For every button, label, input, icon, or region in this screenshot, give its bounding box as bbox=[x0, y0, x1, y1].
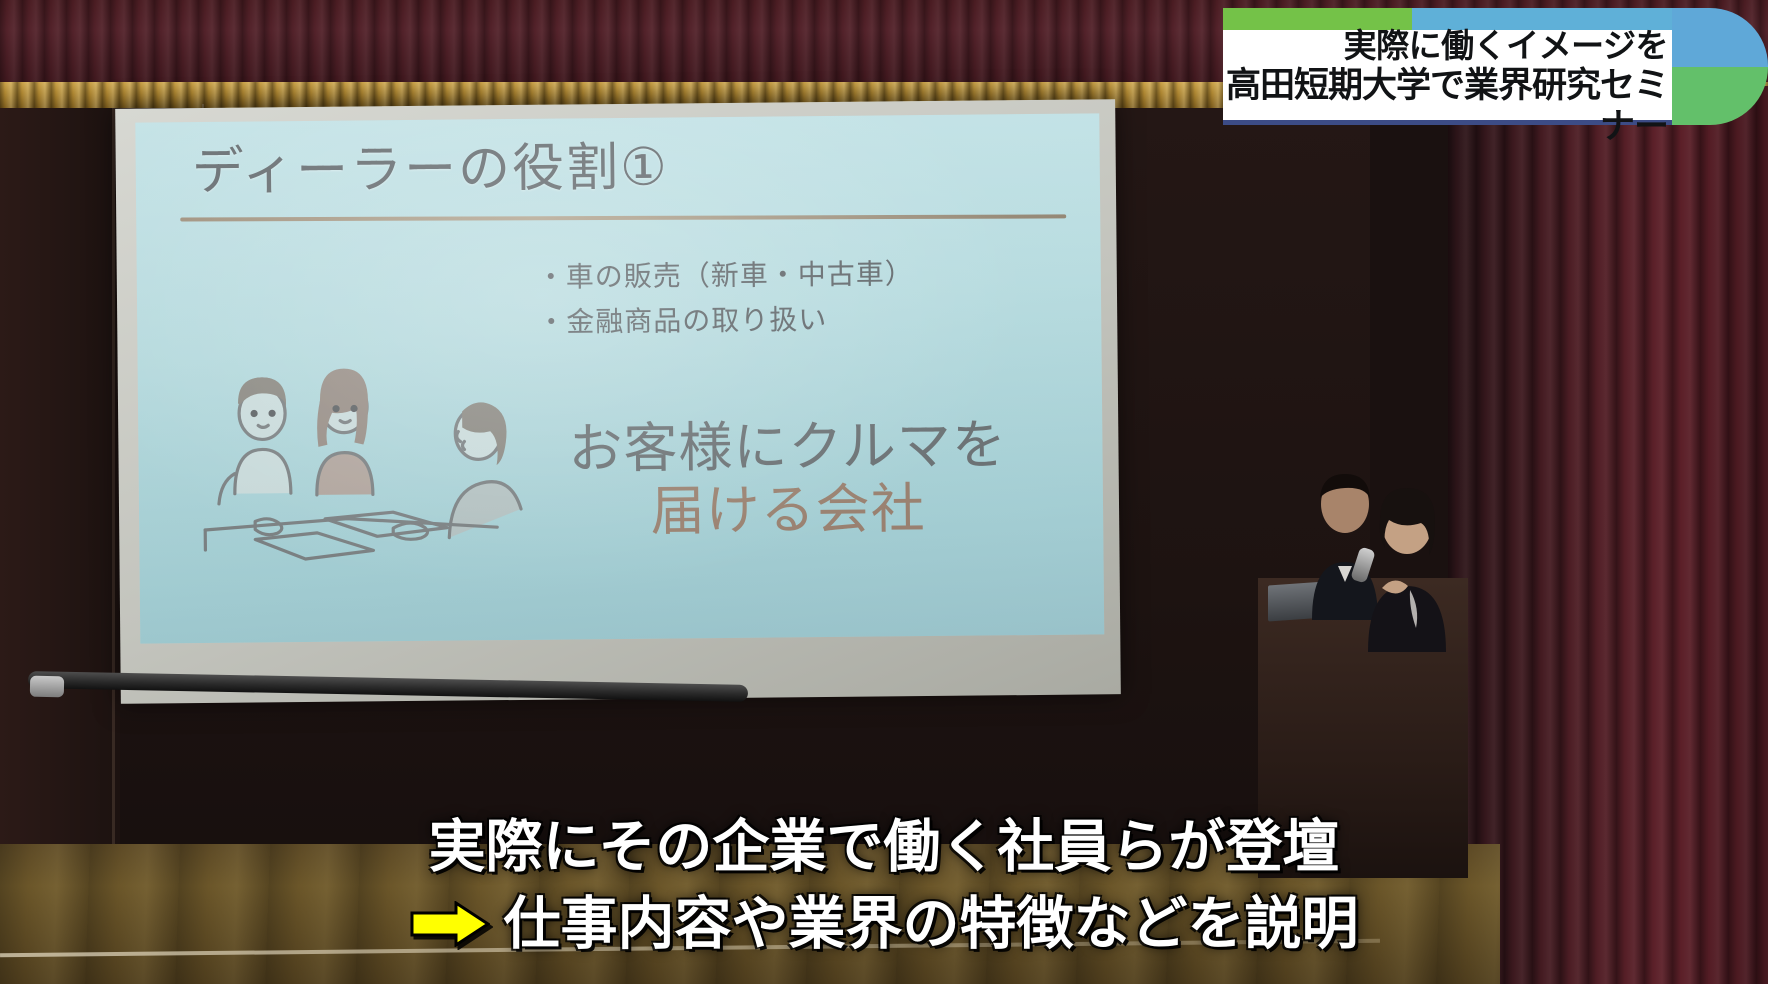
ticker-cap-blue bbox=[1660, 8, 1768, 67]
subtitle-line-1: 実際にその企業で働く社員らが登壇 bbox=[0, 809, 1768, 885]
slide-headline-line1: お客様にクルマを bbox=[568, 414, 1007, 481]
wall-panel-left bbox=[0, 104, 120, 864]
slide-headline: お客様にクルマを 届ける会社 bbox=[568, 414, 1008, 543]
broadcast-frame: ディーラーの役割① ・車の販売（新車・中古車） ・金融商品の取り扱い お客様にク… bbox=[0, 0, 1768, 984]
slide-surface: ディーラーの役割① ・車の販売（新車・中古車） ・金融商品の取り扱い お客様にク… bbox=[135, 113, 1104, 643]
screen-pole-cap bbox=[30, 676, 64, 698]
news-ticker: 実際に働くイメージを 高田短期大学で業界研究セミナー bbox=[975, 8, 1768, 125]
slide-title-underline bbox=[180, 214, 1066, 221]
slide-headline-line2: 届ける会社 bbox=[569, 477, 1008, 544]
ticker-headline-line1: 実際に働くイメージを bbox=[1225, 27, 1668, 66]
speaker-person-foreground bbox=[1362, 482, 1450, 652]
slide-bullet-list: ・車の販売（新車・中古車） ・金融商品の取り扱い bbox=[537, 251, 915, 345]
right-arrow-icon bbox=[410, 901, 490, 947]
projection-screen: ディーラーの役割① ・車の販売（新車・中古車） ・金融商品の取り扱い お客様にク… bbox=[115, 99, 1121, 704]
slide-title: ディーラーの役割① bbox=[192, 140, 670, 202]
slide-bullet-item: ・車の販売（新車・中古車） bbox=[537, 251, 914, 300]
sales-counter-illustration bbox=[195, 341, 527, 584]
subtitle-line-2-text: 仕事内容や業界の特徴などを説明 bbox=[504, 886, 1359, 962]
subtitle-line-2-row: 仕事内容や業界の特徴などを説明 bbox=[0, 886, 1768, 962]
subtitle-block: 実際にその企業で働く社員らが登壇 仕事内容や業界の特徴などを説明 bbox=[0, 809, 1768, 962]
ticker-text-block: 実際に働くイメージを 高田短期大学で業界研究セミナー bbox=[1225, 27, 1668, 149]
ticker-headline-line2: 高田短期大学で業界研究セミナー bbox=[1225, 66, 1668, 149]
slide-bullet-item: ・金融商品の取り扱い bbox=[537, 297, 914, 346]
ticker-rounded-cap bbox=[1660, 8, 1768, 125]
ticker-cap-green bbox=[1660, 67, 1768, 126]
